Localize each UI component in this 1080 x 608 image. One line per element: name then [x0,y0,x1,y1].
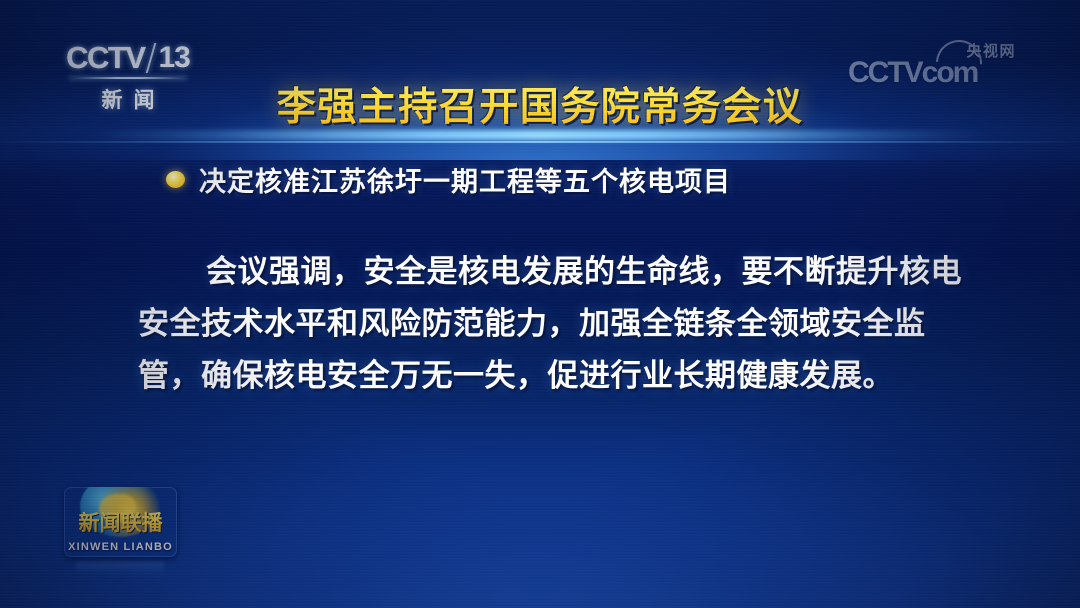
news-headline: 李强主持召开国务院常务会议 [0,76,1080,132]
cctv13-divider-slash [145,43,156,73]
program-name-en: XINWEN LIANBO [64,541,177,553]
subtitle-text: 决定核准江苏徐圩一期工程等五个核电项目 [199,160,731,199]
body-line-1: 会议强调，安全是核电发展的生命线，要不断提升核电 [138,246,944,298]
broadcast-screen: CCTV 13 新闻 CCTVcom 央视网 李强主持召开国务院常务会议 决定核… [0,0,1080,608]
body-line-2: 安全技术水平和风险防范能力，加强全链条全领域安全监 [138,298,944,350]
body-paragraph: 会议强调，安全是核电发展的生命线，要不断提升核电 安全技术水平和风险防范能力，加… [138,246,944,402]
cctv13-channel-number: 13 [159,41,190,75]
cctv-wordmark: CCTV [66,40,144,76]
header-bottom-glow [90,130,990,140]
header-divider-rule [0,141,1080,143]
subtitle-row: 决定核准江苏徐圩一期工程等五个核电项目 [166,160,731,199]
body-line-3: 管，确保核电安全万无一失，促进行业长期健康发展。 [138,350,944,402]
program-name-cn: 新闻联播 [64,507,177,537]
badge-reflection [76,562,164,578]
xinwen-lianbo-badge: 新闻联播 XINWEN LIANBO [64,487,177,557]
cctv13-logo-row: CCTV 13 [62,40,194,76]
bullet-point-icon [166,171,185,188]
header-band: CCTV 13 新闻 CCTVcom 央视网 李强主持召开国务院常务会议 [0,0,1080,142]
cctv-com-label-cn: 央视网 [966,40,1016,61]
